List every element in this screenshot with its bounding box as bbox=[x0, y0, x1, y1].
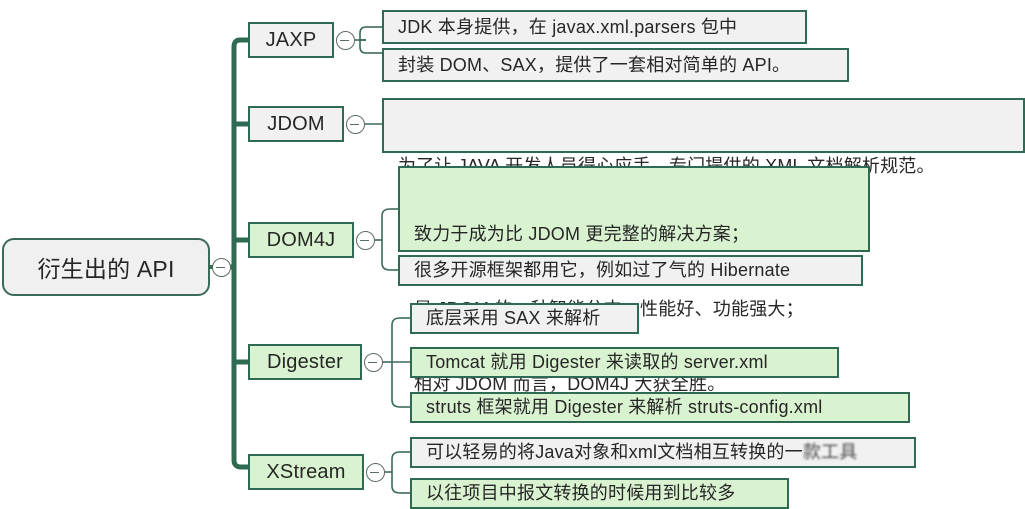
leaf-node-xstream-1[interactable]: 可以轻易的将Java对象和xml文档相互转换的一款工具 bbox=[410, 437, 916, 468]
leaf-node-jaxp-1-text: JDK 本身提供，在 javax.xml.parsers 包中 bbox=[398, 15, 737, 40]
branch-node-xstream-label: XStream bbox=[266, 461, 345, 484]
jdom-collapse-toggle-icon[interactable] bbox=[346, 115, 365, 134]
leaf-node-digester-3-text: struts 框架就用 Digester 来解析 struts-config.x… bbox=[426, 395, 822, 420]
branch-node-digester[interactable]: Digester bbox=[248, 344, 362, 380]
leaf-node-jaxp-1[interactable]: JDK 本身提供，在 javax.xml.parsers 包中 bbox=[382, 10, 807, 44]
dom4j-collapse-toggle-icon[interactable] bbox=[356, 231, 375, 250]
branch-node-dom4j-label: DOM4J bbox=[267, 229, 336, 252]
digester-collapse-toggle-icon[interactable] bbox=[364, 353, 383, 372]
root-node-label: 衍生出的 API bbox=[37, 250, 174, 284]
leaf-node-jdom-1[interactable]: 为了让 JAVA 开发人员得心应手，专门提供的 XML 文档解析规范。 由于性能… bbox=[382, 98, 1025, 153]
leaf-node-dom4j-1-line-1: 致力于成为比 JDOM 更完整的解决方案； bbox=[414, 222, 858, 247]
leaf-node-xstream-1-text: 可以轻易的将Java对象和xml文档相互转换的一 bbox=[426, 440, 803, 465]
leaf-node-dom4j-2[interactable]: 很多开源框架都用它，例如过了气的 Hibernate bbox=[398, 255, 863, 286]
leaf-node-dom4j-1[interactable]: 致力于成为比 JDOM 更完整的解决方案； 是 JDOM 的一种智能分支，性能好… bbox=[398, 166, 870, 252]
leaf-node-xstream-2[interactable]: 以往项目中报文转换的时候用到比较多 bbox=[410, 478, 789, 509]
branch-node-xstream[interactable]: XStream bbox=[248, 454, 364, 490]
mindmap-canvas: 衍生出的 API JAXP JDK 本身提供，在 javax.xml.parse… bbox=[0, 0, 1025, 506]
leaf-node-digester-2-text: Tomcat 就用 Digester 来读取的 server.xml bbox=[426, 350, 768, 375]
leaf-node-digester-1-text: 底层采用 SAX 来解析 bbox=[426, 306, 600, 331]
leaf-node-digester-3[interactable]: struts 框架就用 Digester 来解析 struts-config.x… bbox=[410, 392, 910, 423]
branch-node-jaxp-label: JAXP bbox=[266, 29, 317, 52]
branch-node-dom4j[interactable]: DOM4J bbox=[248, 222, 354, 258]
leaf-node-jaxp-2[interactable]: 封装 DOM、SAX，提供了一套相对简单的 API。 bbox=[382, 48, 849, 82]
leaf-node-xstream-2-text: 以往项目中报文转换的时候用到比较多 bbox=[426, 481, 735, 506]
branch-node-jdom-label: JDOM bbox=[267, 113, 324, 136]
leaf-node-jaxp-2-text: 封装 DOM、SAX，提供了一套相对简单的 API。 bbox=[398, 53, 790, 78]
branch-node-jdom[interactable]: JDOM bbox=[248, 106, 344, 142]
jaxp-collapse-toggle-icon[interactable] bbox=[336, 31, 355, 50]
branch-node-jaxp[interactable]: JAXP bbox=[248, 22, 334, 58]
leaf-node-dom4j-2-text: 很多开源框架都用它，例如过了气的 Hibernate bbox=[414, 258, 790, 283]
root-collapse-toggle-icon[interactable] bbox=[212, 258, 231, 277]
root-node[interactable]: 衍生出的 API bbox=[2, 238, 210, 296]
leaf-node-xstream-1-trailing-text: 款工具 bbox=[803, 440, 858, 465]
branch-node-digester-label: Digester bbox=[267, 351, 343, 374]
xstream-collapse-toggle-icon[interactable] bbox=[366, 463, 385, 482]
leaf-node-digester-2[interactable]: Tomcat 就用 Digester 来读取的 server.xml bbox=[410, 347, 839, 378]
leaf-node-digester-1[interactable]: 底层采用 SAX 来解析 bbox=[410, 303, 639, 334]
